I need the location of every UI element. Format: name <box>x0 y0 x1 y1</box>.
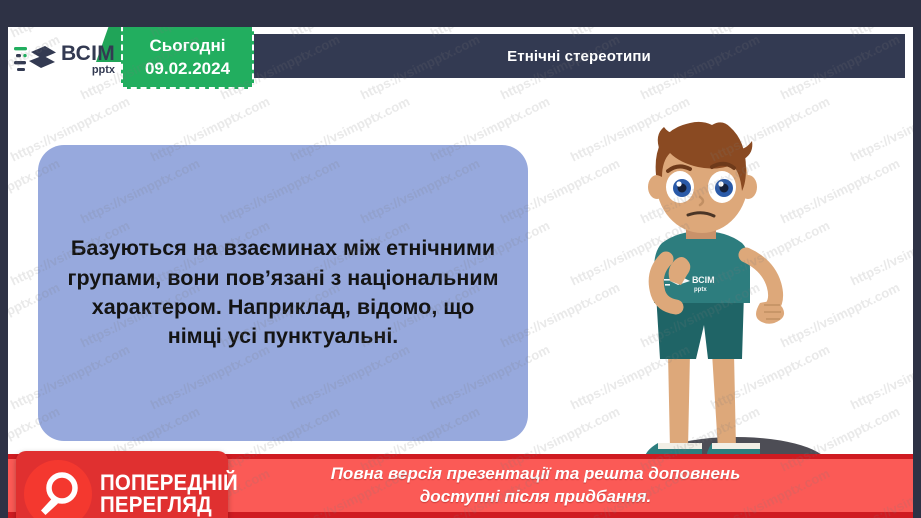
today-date: 09.02.2024 <box>145 59 230 79</box>
slide-canvas: ВСІМ pptx Етнічні стереотипи Сьогодні 09… <box>8 27 913 518</box>
slide-title-bar: Етнічні стереотипи <box>253 34 905 78</box>
presentation-slide: ВСІМ pptx Етнічні стереотипи Сьогодні 09… <box>0 0 921 518</box>
preview-badge[interactable]: ПОПЕРЕДНІЙ ПЕРЕГЛЯД <box>16 451 228 518</box>
preview-badge-line-1: ПОПЕРЕДНІЙ <box>100 472 238 494</box>
purchase-notice-line-1: Повна версія презентації та решта доповн… <box>331 463 741 485</box>
graduation-cap-icon <box>14 41 56 77</box>
watermark-text: https://vsimpptx.com <box>848 342 913 413</box>
page-title: Етнічні стереотипи <box>507 48 651 65</box>
today-date-badge: Сьогодні 09.02.2024 <box>121 27 254 89</box>
preview-badge-label: ПОПЕРЕДНІЙ ПЕРЕГЛЯД <box>100 472 248 516</box>
purchase-notice-line-2: доступні після придбання. <box>331 486 741 508</box>
purchase-notice-text: Повна версія презентації та решта доповн… <box>181 463 741 507</box>
svg-text:ВСІМ: ВСІМ <box>692 275 715 285</box>
magnifier-icon <box>24 460 92 518</box>
brand-logo: ВСІМ pptx <box>14 35 124 83</box>
today-label: Сьогодні <box>150 36 226 56</box>
brand-name: ВСІМ <box>61 43 115 64</box>
svg-text:pptx: pptx <box>694 287 707 293</box>
thinking-boy-illustration: ВСІМ pptx <box>608 113 843 498</box>
brand-wordmark: ВСІМ pptx <box>61 43 115 76</box>
body-text: Базуються на взаєминах між етнічними гру… <box>64 234 502 352</box>
watermark-text: https://vsimpptx.com <box>848 218 913 289</box>
brand-suffix: pptx <box>92 65 115 76</box>
preview-badge-line-2: ПЕРЕГЛЯД <box>100 494 238 516</box>
content-text-card: Базуються на взаєминах між етнічними гру… <box>38 145 528 441</box>
watermark-text: https://vsimpptx.com <box>848 94 913 165</box>
